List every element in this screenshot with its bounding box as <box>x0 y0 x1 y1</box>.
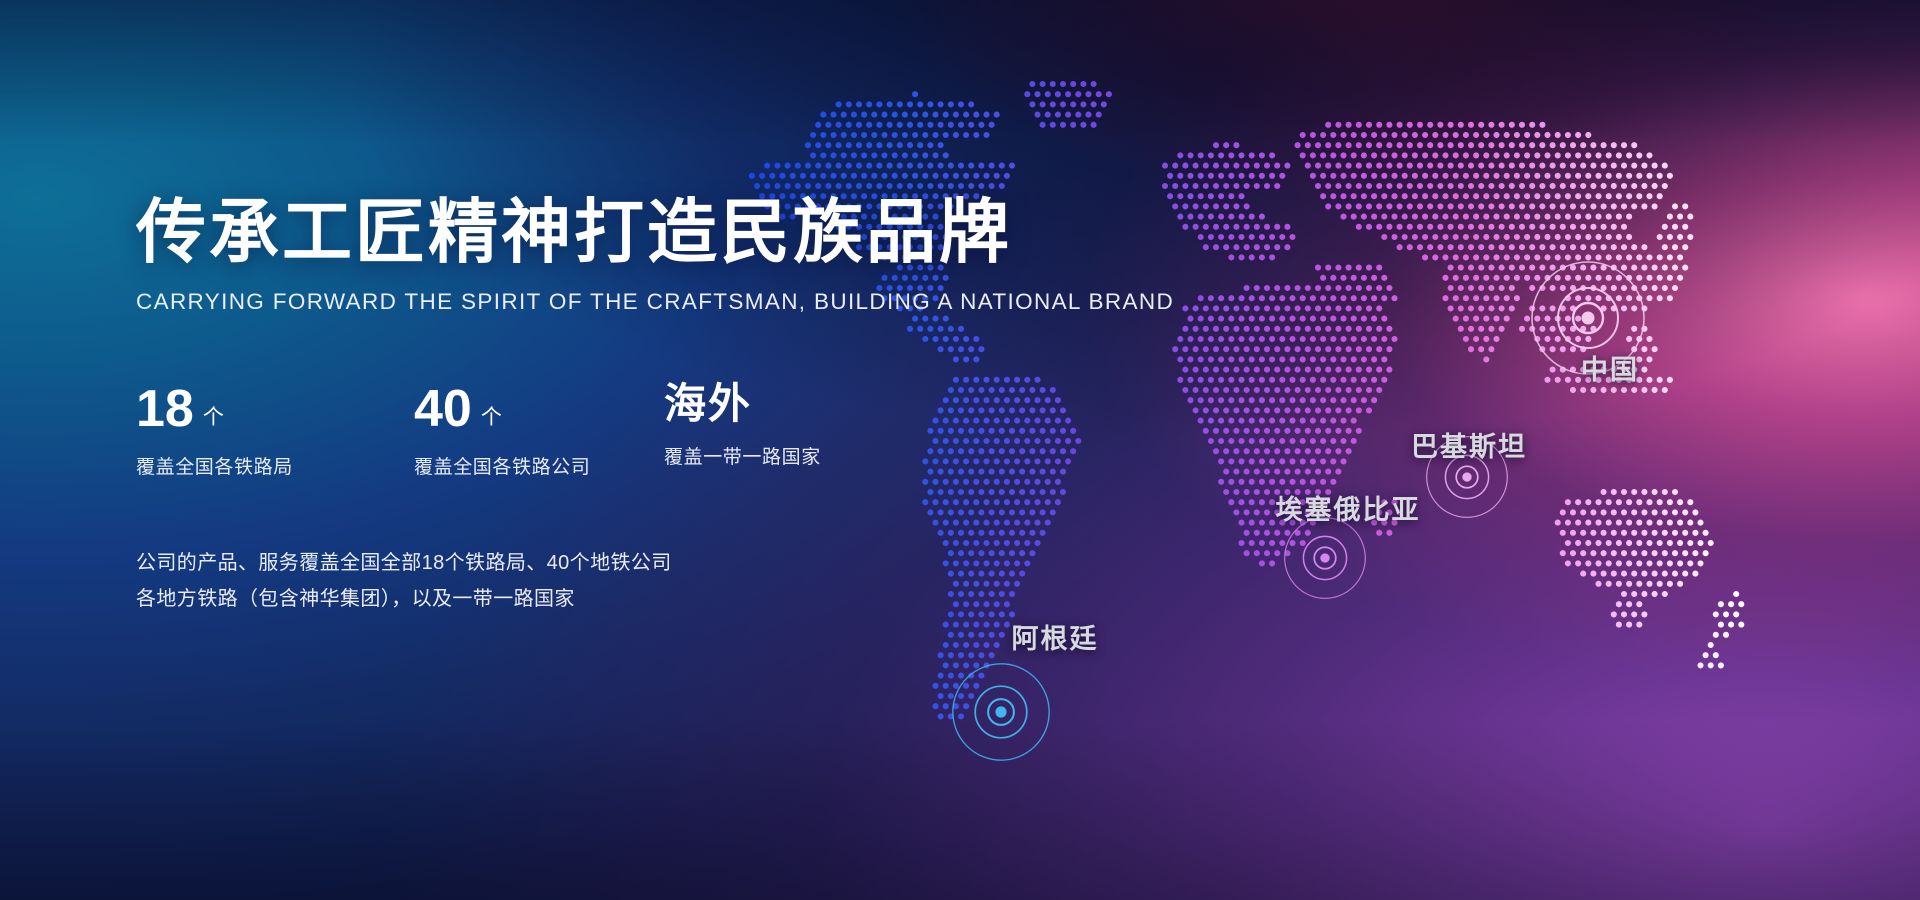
stat-item-railway-bureaus: 18 个 覆盖全国各铁路局 <box>136 383 414 479</box>
description-line-1: 公司的产品、服务覆盖全国全部18个铁路局、40个地铁公司 <box>136 545 1036 581</box>
stat-value-row: 海外 <box>664 383 904 425</box>
stat-item-railway-companies: 40 个 覆盖全国各铁路公司 <box>414 383 664 479</box>
stats-row: 18 个 覆盖全国各铁路局 40 个 覆盖全国各铁路公司 海外 覆盖一带一路国家 <box>136 383 1036 479</box>
stat-caption: 覆盖全国各铁路公司 <box>414 452 664 479</box>
stat-value-row: 18 个 <box>136 383 414 435</box>
description-block: 公司的产品、服务覆盖全国全部18个铁路局、40个地铁公司 各地方铁路（包含神华集… <box>136 545 1036 618</box>
page-title: 传承工匠精神打造民族品牌 <box>136 196 1036 269</box>
map-marker-label-4: 阿根廷 <box>1012 617 1099 656</box>
page-subtitle: CARRYING FORWARD THE SPIRIT OF THE CRAFT… <box>136 289 1036 315</box>
stat-unit: 个 <box>203 401 224 431</box>
description-line-2: 各地方铁路（包含神华集团），以及一带一路国家 <box>136 581 1036 617</box>
stat-value: 海外 <box>664 383 752 425</box>
map-marker-label-1: 中国 <box>1581 348 1639 387</box>
stat-value: 18 <box>136 383 194 435</box>
stat-value: 40 <box>414 383 472 435</box>
hero-content: 传承工匠精神打造民族品牌 CARRYING FORWARD THE SPIRIT… <box>136 196 1036 618</box>
stat-value-row: 40 个 <box>414 383 664 435</box>
map-marker-label-3: 埃塞俄比亚 <box>1276 488 1421 527</box>
hero-banner: 中国巴基斯坦埃塞俄比亚阿根廷 传承工匠精神打造民族品牌 CARRYING FOR… <box>0 0 1920 900</box>
stat-item-overseas: 海外 覆盖一带一路国家 <box>664 383 904 479</box>
stat-caption: 覆盖一带一路国家 <box>664 442 904 469</box>
stat-unit: 个 <box>481 401 502 431</box>
map-marker-label-2: 巴基斯坦 <box>1411 425 1527 464</box>
stat-caption: 覆盖全国各铁路局 <box>136 452 414 479</box>
